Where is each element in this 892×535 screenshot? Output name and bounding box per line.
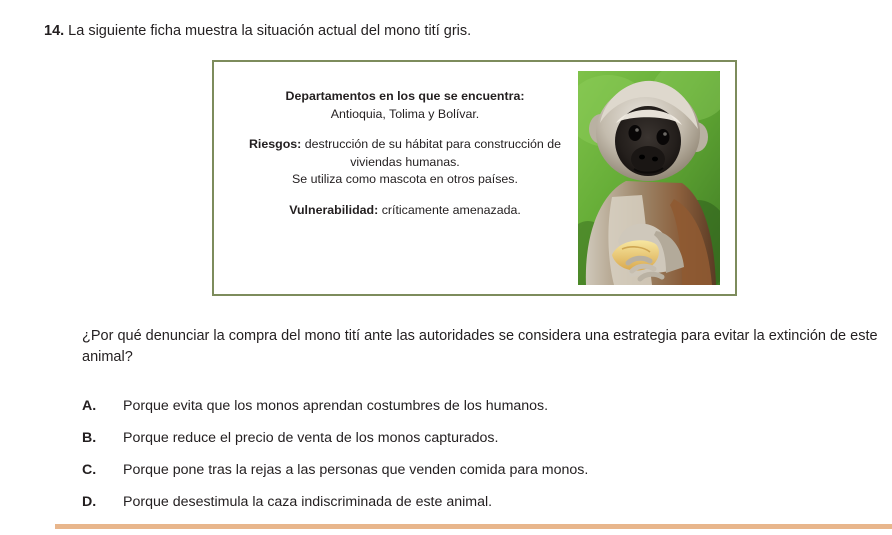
vulnerability-label: Vulnerabilidad: <box>289 203 378 217</box>
risks-line: Riesgos: destrucción de su hábitat para … <box>230 136 580 171</box>
risks-extra: Se utiliza como mascota en otros países. <box>230 171 580 189</box>
info-card-text: Departamentos en los que se encuentra: A… <box>230 88 580 220</box>
option-a[interactable]: A. Porque evita que los monos aprendan c… <box>82 398 872 430</box>
risks-value: destrucción de su hábitat para construcc… <box>305 137 561 169</box>
risks-block: Riesgos: destrucción de su hábitat para … <box>230 136 580 189</box>
footer-divider <box>55 524 892 529</box>
info-card: Departamentos en los que se encuentra: A… <box>212 60 737 296</box>
question-prompt: ¿Por qué denunciar la compra del mono ti… <box>82 326 886 367</box>
option-b-letter: B. <box>82 430 123 446</box>
option-b[interactable]: B. Porque reduce el precio de venta de l… <box>82 430 872 462</box>
option-c-letter: C. <box>82 462 123 478</box>
risks-label: Riesgos: <box>249 137 301 151</box>
option-d-letter: D. <box>82 494 123 510</box>
monkey-photo <box>578 71 720 285</box>
departments-label: Departamentos en los que se encuentra: <box>230 88 580 106</box>
option-c[interactable]: C. Porque pone tras la rejas a las perso… <box>82 462 872 494</box>
question-number: 14. <box>44 23 64 39</box>
option-b-text: Porque reduce el precio de venta de los … <box>123 430 872 446</box>
option-a-letter: A. <box>82 398 123 414</box>
answer-options: A. Porque evita que los monos aprendan c… <box>82 398 872 526</box>
question-stem: 14.La siguiente ficha muestra la situaci… <box>44 22 864 41</box>
vulnerability-block: Vulnerabilidad: críticamente amenazada. <box>230 202 580 220</box>
option-a-text: Porque evita que los monos aprendan cost… <box>123 398 872 414</box>
option-d-text: Porque desestimula la caza indiscriminad… <box>123 494 872 510</box>
question-stem-text: La siguiente ficha muestra la situación … <box>68 23 471 39</box>
option-c-text: Porque pone tras la rejas a las personas… <box>123 462 872 478</box>
departments-value: Antioquia, Tolima y Bolívar. <box>230 106 580 124</box>
vulnerability-value: críticamente amenazada. <box>382 203 521 217</box>
option-d[interactable]: D. Porque desestimula la caza indiscrimi… <box>82 494 872 526</box>
departments-block: Departamentos en los que se encuentra: A… <box>230 88 580 123</box>
